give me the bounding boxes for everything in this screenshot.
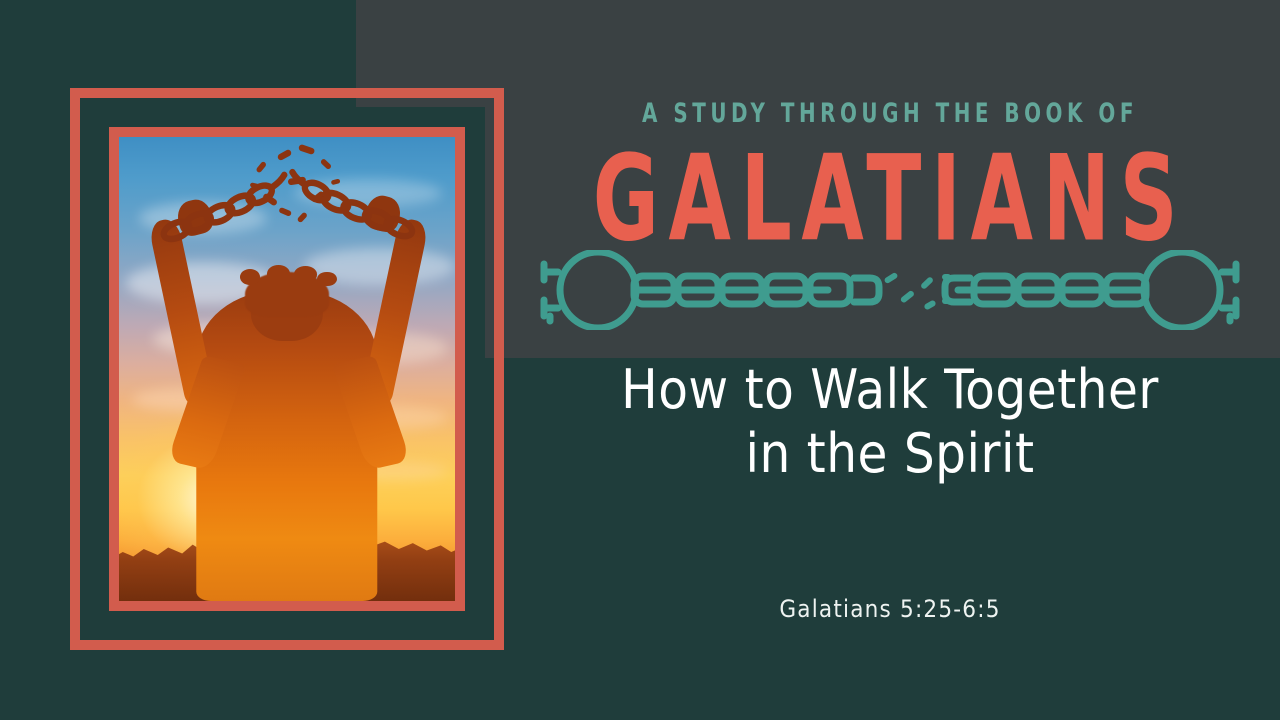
open-shackle-ring-right — [1144, 252, 1220, 328]
scripture-reference: Galatians 5:25-6:5 — [520, 595, 1260, 623]
hair-tuft — [240, 269, 260, 285]
figure-right-fist — [362, 193, 403, 235]
figure-silhouette — [119, 137, 455, 601]
presentation-slide: A STUDY THROUGH THE BOOK OF GALATIANS — [0, 0, 1280, 720]
sermon-title: How to Walk Together in the Spirit — [520, 358, 1260, 485]
sermon-title-line-1: How to Walk Together — [520, 358, 1260, 422]
series-eyebrow: A STUDY THROUGH THE BOOK OF — [570, 98, 1210, 129]
hero-photo — [119, 137, 455, 601]
hair-tuft — [267, 265, 291, 283]
hair-tuft — [317, 272, 337, 287]
photo-frame-inner-border — [109, 127, 465, 611]
broken-chain-divider — [528, 250, 1252, 330]
open-shackle-ring-left — [560, 252, 636, 328]
figure-left-fist — [174, 196, 215, 238]
photo-frame — [70, 88, 504, 650]
book-title: GALATIANS — [578, 140, 1202, 259]
sermon-title-line-2: in the Spirit — [520, 422, 1260, 486]
